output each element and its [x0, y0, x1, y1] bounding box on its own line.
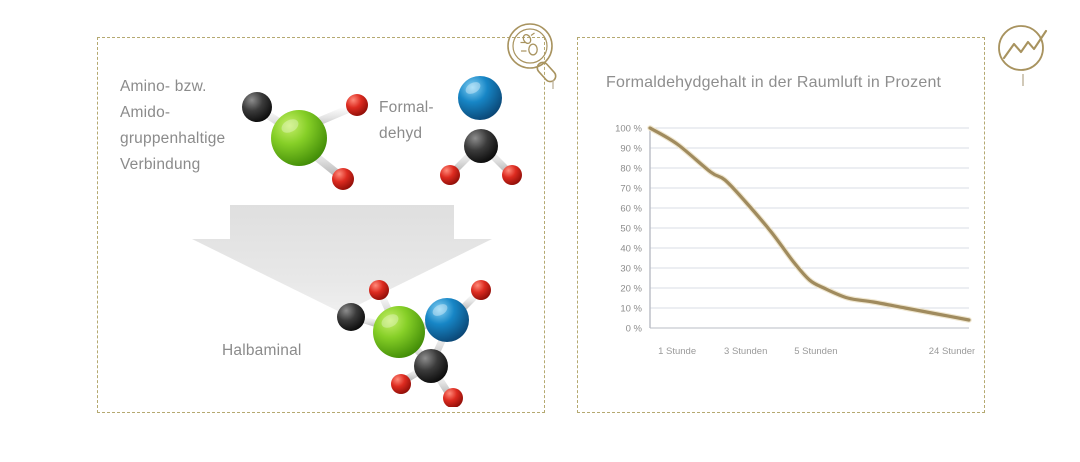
- y-axis-tick: 60 %: [620, 204, 642, 215]
- chart-title: Formaldehydgehalt in der Raumluft in Pro…: [606, 74, 941, 92]
- y-axis-tick: 20 %: [620, 284, 642, 295]
- x-axis-tick: 3 Stunden: [724, 346, 767, 357]
- y-axis-tick: 30 %: [620, 264, 642, 275]
- y-axis-tick: 40 %: [620, 244, 642, 255]
- y-axis-tick: 50 %: [620, 224, 642, 235]
- x-axis-tick: 24 Stunden: [929, 346, 975, 357]
- series-line-glow: [650, 128, 969, 320]
- infographic-stage: Amino- bzw. Amido- gruppenhaltige Verbin…: [0, 0, 1080, 462]
- series-line: [650, 128, 969, 320]
- y-axis-tick: 70 %: [620, 184, 642, 195]
- x-axis-tick: 1 Stunde: [658, 346, 696, 357]
- y-axis-tick: 0 %: [626, 324, 643, 335]
- y-axis-tick: 80 %: [620, 164, 642, 175]
- trend-chart-icon: [990, 18, 1062, 90]
- molecule-halbaminal: [325, 272, 510, 407]
- molecule-amino-compound: [233, 83, 373, 198]
- y-axis-tick: 10 %: [620, 304, 642, 315]
- molecule-formaldehyde: [435, 70, 525, 190]
- y-axis-tick: 90 %: [620, 144, 642, 155]
- chart-formaldehyde-decay: 0 %10 %20 %30 %40 %50 %60 %70 %80 %90 %1…: [600, 118, 975, 380]
- x-axis-tick: 5 Stunden: [794, 346, 837, 357]
- y-axis-tick: 100 %: [615, 124, 642, 135]
